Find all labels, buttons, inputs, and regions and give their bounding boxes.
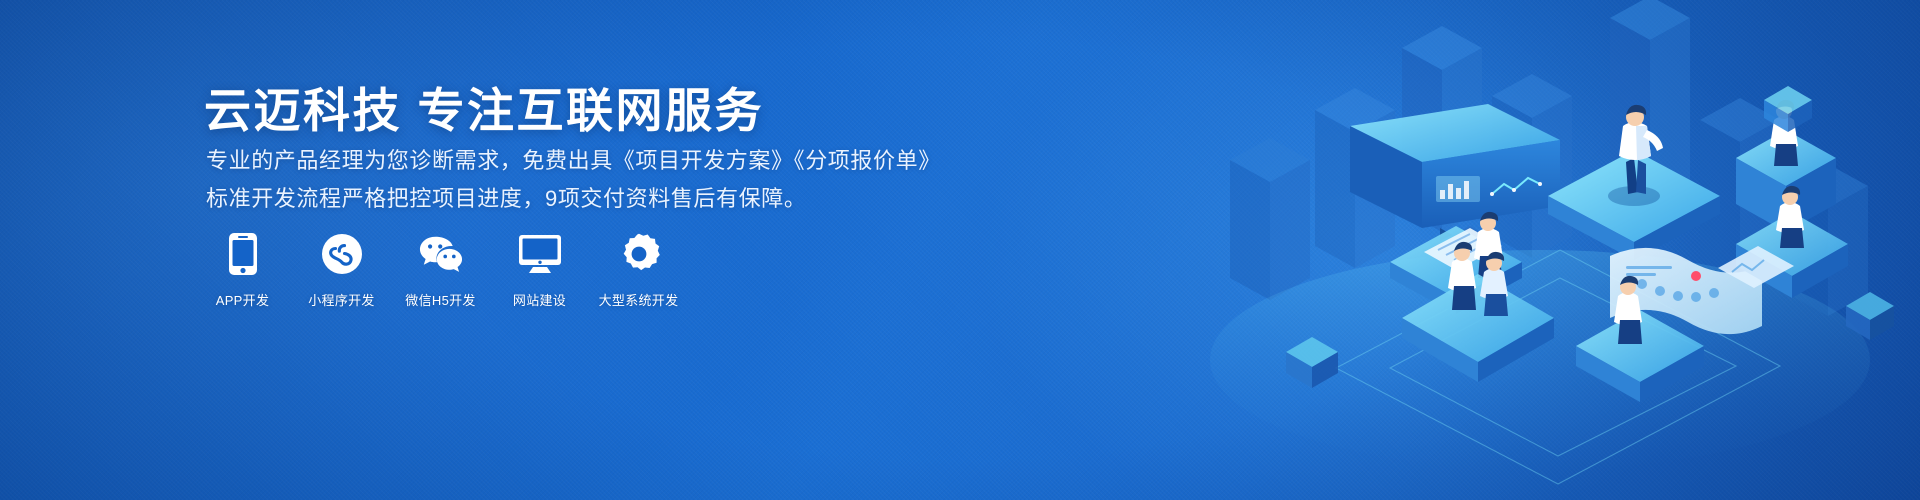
- service-label-large-system: 大型系统开发: [599, 290, 679, 309]
- service-item-website[interactable]: 网站建设: [503, 232, 576, 309]
- banner-headline: 云迈科技 专注互联网服务: [204, 72, 764, 141]
- mini-program-icon: [320, 232, 364, 276]
- wechat-icon: [419, 232, 463, 276]
- service-item-wechat-h5[interactable]: 微信H5开发: [404, 232, 477, 309]
- service-label-mini-program: 小程序开发: [308, 290, 375, 309]
- service-label-website: 网站建设: [513, 290, 566, 309]
- service-label-app: APP开发: [216, 290, 270, 309]
- monitor-icon: [518, 232, 562, 276]
- mobile-phone-icon: [221, 232, 265, 276]
- service-item-app[interactable]: APP开发: [206, 232, 279, 309]
- banner-content: 云迈科技 专注互联网服务 专业的产品经理为您诊断需求，免费出具《项目开发方案》《…: [200, 0, 960, 500]
- banner-subtitle-line-1: 专业的产品经理为您诊断需求，免费出具《项目开发方案》《分项报价单》: [206, 143, 941, 175]
- illustration-isometric-data-platform: [1140, 0, 1920, 500]
- service-list: APP开发 小程序开发: [206, 232, 675, 309]
- service-item-mini-program[interactable]: 小程序开发: [305, 232, 378, 309]
- gear-icon: [617, 232, 661, 276]
- service-item-large-system[interactable]: 大型系统开发: [602, 232, 675, 309]
- service-label-wechat-h5: 微信H5开发: [405, 290, 475, 309]
- banner-subtitle-line-2: 标准开发流程严格把控项目进度，9项交付资料售后有保障。: [206, 181, 806, 213]
- hero-banner: 云迈科技 专注互联网服务 专业的产品经理为您诊断需求，免费出具《项目开发方案》《…: [0, 0, 1920, 500]
